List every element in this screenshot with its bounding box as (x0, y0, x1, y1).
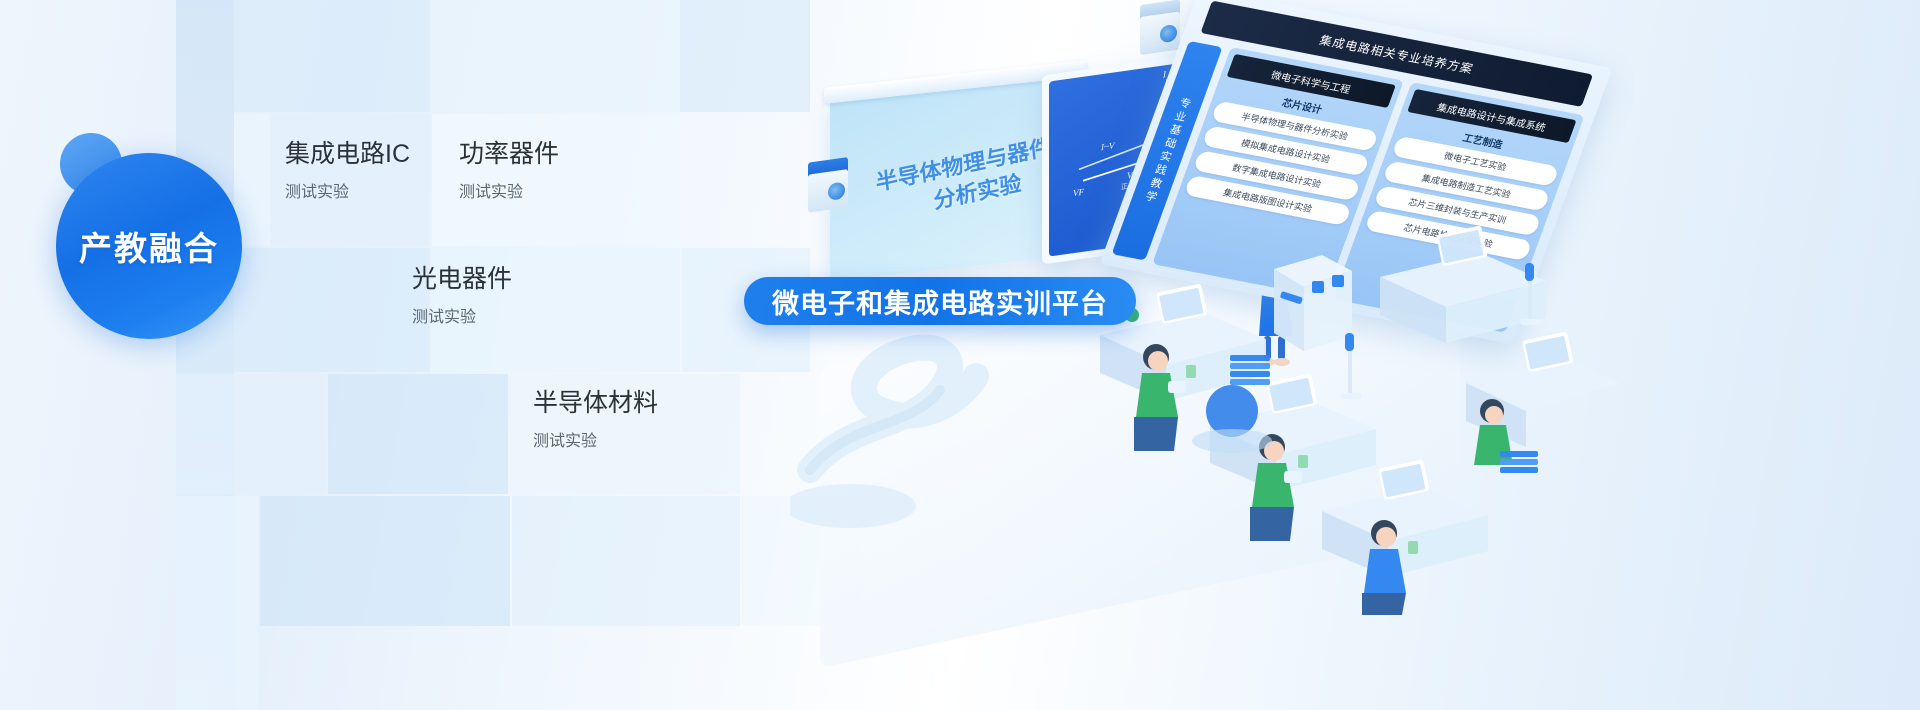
curve-label: I~V (1100, 140, 1116, 152)
isometric-illustration: 半导体物理与器件 分析实验 I~V I V (760, 0, 1920, 710)
cup-icon (1298, 455, 1308, 468)
bg-tile (328, 374, 508, 494)
feature-card-optoelectronic[interactable]: 光电器件 测试实验 (412, 265, 512, 327)
product-banner: 产教融合 集成电路IC 测试实验 功率器件 测试实验 光电器件 测试实验 半导体… (0, 0, 1920, 710)
badge-label: 产教融合 (48, 133, 250, 359)
feature-title: 半导体材料 (533, 389, 658, 418)
bg-tile (430, 0, 680, 112)
cup-icon (1408, 541, 1418, 554)
feature-subtitle: 测试实验 (459, 178, 559, 202)
vf-left-label: VF (1073, 187, 1084, 199)
bg-tile (260, 496, 510, 626)
equipment-tower (1274, 255, 1352, 351)
feature-title: 集成电路IC (285, 140, 410, 169)
bg-tile (512, 496, 740, 626)
lab-desk-group (1060, 215, 1620, 615)
swirl-ribbon-decoration (790, 330, 1010, 530)
bg-tile (234, 0, 430, 112)
feature-subtitle: 测试实验 (412, 303, 512, 327)
fusion-badge: 产教融合 (48, 133, 248, 323)
feature-subtitle: 测试实验 (285, 178, 410, 202)
microphone-stand (1340, 333, 1362, 399)
feature-card-ic[interactable]: 集成电路IC 测试实验 (285, 140, 410, 202)
feature-title: 光电器件 (412, 265, 512, 294)
feature-title: 功率器件 (459, 140, 559, 169)
bg-tile (176, 496, 258, 710)
platform-pill-label[interactable]: 微电子和集成电路实训平台 (744, 277, 1136, 325)
server-stack (1500, 451, 1538, 473)
cup-icon (1186, 365, 1196, 378)
feature-subtitle: 测试实验 (533, 427, 658, 451)
feature-card-semiconductor-material[interactable]: 半导体材料 测试实验 (533, 389, 658, 451)
workstation (1322, 459, 1488, 577)
projector-cube-lower (806, 157, 848, 209)
lab-workstations (1060, 215, 1620, 615)
bg-tile (176, 374, 326, 494)
workstation (1380, 225, 1546, 343)
feature-card-power-device[interactable]: 功率器件 测试实验 (459, 140, 559, 202)
